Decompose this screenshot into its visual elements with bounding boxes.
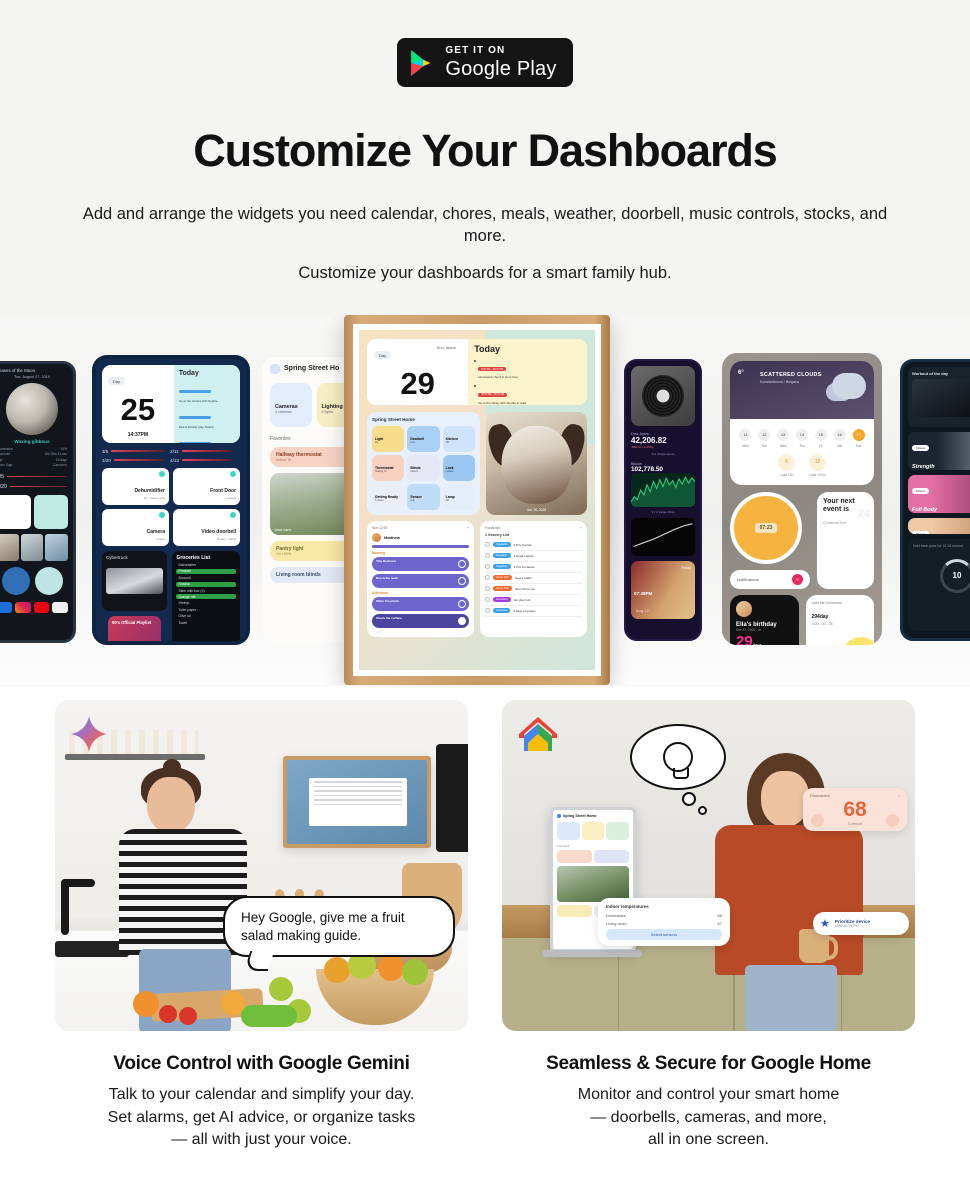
tile-lighting[interactable] bbox=[582, 822, 605, 840]
favorite-lock[interactable] bbox=[594, 850, 629, 863]
device-name: Camera bbox=[147, 529, 165, 535]
home-icon bbox=[557, 814, 561, 818]
alarm-bar bbox=[10, 486, 67, 488]
app-dock bbox=[0, 599, 73, 616]
circle-widget-right[interactable] bbox=[35, 567, 63, 595]
alarm-row[interactable]: 3/5 bbox=[0, 472, 73, 482]
groceries-widget[interactable]: Groceries List Dishwasher Produce Brocco… bbox=[172, 551, 240, 645]
favorite-thermostat[interactable] bbox=[557, 850, 592, 863]
grocery-row[interactable]: Home Taskfeed a rabbit bbox=[485, 573, 582, 584]
grocery-item[interactable]: Orange net bbox=[176, 594, 236, 599]
widget-size-label: 3x1 Single Quote bbox=[631, 452, 695, 456]
event-text: Go to the Library with Sophie bbox=[179, 399, 235, 403]
app-icon-instagram[interactable] bbox=[15, 602, 31, 613]
feature-desc-gemini: Talk to your calendar and simplify your … bbox=[55, 1084, 468, 1152]
calendar-event[interactable]: 6:30 PM – 08:30 PMHomework check & story… bbox=[474, 357, 581, 380]
event-text: Dad & brother play Switch bbox=[179, 425, 235, 429]
circle-widgets bbox=[0, 563, 73, 599]
device-name: Video doorbell bbox=[201, 529, 236, 535]
alarm-time: 2/20 bbox=[102, 458, 111, 463]
device-sub: Online bbox=[156, 537, 165, 541]
priority-sub: Until 10:15 PM bbox=[835, 924, 870, 928]
device-name: Dehumidifier bbox=[134, 488, 165, 494]
clock-time: 14:37PM bbox=[374, 401, 461, 405]
device-sub: Ready • 100% bbox=[217, 537, 236, 541]
notifications-widget[interactable]: Notifications 9 bbox=[730, 570, 810, 589]
tile-cameras[interactable]: Cameras 4 cameras bbox=[270, 383, 312, 427]
device-card[interactable]: DehumidifierOn • Auto mode bbox=[102, 468, 169, 505]
faucet bbox=[61, 879, 69, 935]
google-play-triangle-icon bbox=[409, 49, 435, 77]
device-name: Front Door bbox=[210, 488, 236, 494]
wall-speaker bbox=[436, 744, 468, 852]
grocery-list-title: 1 Grocery List bbox=[485, 533, 582, 537]
photo-thumb[interactable] bbox=[0, 534, 19, 561]
gemini-sparkle-icon bbox=[69, 714, 109, 754]
timer-label: Hold each pose for 10-15 second bbox=[913, 544, 970, 548]
grocery-item[interactable]: Olive oil bbox=[176, 614, 236, 619]
lightbulb-icon bbox=[663, 742, 693, 772]
photo-date: Jun 26, 2025 bbox=[486, 508, 587, 512]
time-meridiem: PM bbox=[141, 432, 149, 438]
favorites-label: Favorites bbox=[557, 844, 629, 848]
next-event-number: 24 bbox=[858, 508, 870, 520]
device-tile-setup[interactable] bbox=[0, 495, 31, 529]
alarm-row[interactable]: 2/20 bbox=[0, 482, 73, 492]
weather-mini-row: 6Load 11h 12Load 1d 0m bbox=[730, 452, 874, 485]
moon-row-value: 54% bbox=[61, 447, 67, 451]
store-badge-row: GET IT ON Google Play bbox=[0, 38, 970, 87]
checkbox-icon[interactable] bbox=[458, 577, 466, 585]
groceries-list: Dishwasher Produce Broccoli Snacks Skim … bbox=[176, 563, 236, 626]
lettuce bbox=[241, 1005, 297, 1027]
grocery-row[interactable]: Accessorytire plier bolt bbox=[485, 595, 582, 606]
workout-card-strength[interactable]: Fitness Strength bbox=[908, 432, 970, 470]
feature-gemini: Hey Google, give me a fruit salad making… bbox=[55, 700, 468, 1152]
grocery-item[interactable]: Dishwasher bbox=[176, 563, 236, 568]
checkbox-icon[interactable] bbox=[458, 560, 466, 568]
orange-fruit bbox=[378, 955, 404, 981]
control-light[interactable]: LightOn bbox=[372, 426, 404, 452]
apple-fruit bbox=[402, 959, 428, 985]
event-item[interactable]: Go to the Library with Sophie bbox=[179, 380, 235, 403]
countdown-row: Ella's birthday Oct 21, 2022 , in 29days… bbox=[730, 595, 874, 645]
hero-subtitle-2: Customize your dashboards for a smart fa… bbox=[0, 264, 970, 283]
thermostat-room: Downstairs bbox=[810, 793, 830, 798]
tablet-screen[interactable]: Day Sun, Alarm 29 14:37PM Today 6:30 PM … bbox=[359, 330, 595, 670]
chore-task[interactable]: Brush the teeth10 pt bbox=[372, 574, 469, 588]
control-kitchen[interactable]: KitchenOff bbox=[443, 426, 475, 452]
checkbox-icon[interactable] bbox=[485, 553, 490, 558]
chevron-right-icon[interactable]: › bbox=[899, 793, 900, 798]
tomato-fruit bbox=[179, 1007, 197, 1025]
card-pill: Fitness bbox=[912, 488, 929, 494]
tablet-camera-feed[interactable] bbox=[557, 866, 629, 902]
grocery-item[interactable]: Broccoli bbox=[176, 575, 236, 580]
week-day[interactable]: 13Wed bbox=[775, 429, 792, 448]
plus-button[interactable] bbox=[886, 814, 899, 827]
checkbox-icon[interactable] bbox=[458, 600, 466, 608]
apple-fruit bbox=[269, 977, 293, 1001]
alarm-label: Sun, Alarm bbox=[432, 344, 462, 352]
mini-gauge: 6Load 11h bbox=[778, 454, 795, 477]
photo-strip bbox=[0, 532, 73, 563]
hero-subtitle-1: Add and arrange the widgets you need cal… bbox=[80, 203, 890, 248]
event-time: 6:30 PM – 08:30 PM bbox=[478, 367, 506, 371]
camera-label: Yard cam bbox=[274, 527, 291, 532]
grocery-item[interactable]: Toilet paper bbox=[176, 607, 236, 612]
alarm-grid: 3/5 2/11 2/20 4/13 bbox=[96, 449, 246, 463]
quote-value: 42,206.82 bbox=[631, 436, 695, 445]
car-name: Cybertruck bbox=[106, 555, 163, 560]
tablet-stand bbox=[542, 950, 642, 957]
grocery-header: Foods list+ bbox=[485, 526, 582, 530]
star-icon: ★ bbox=[820, 917, 830, 930]
checkbox-icon[interactable] bbox=[485, 542, 490, 547]
clock-time-value: 07:48 bbox=[634, 591, 646, 596]
week-day[interactable]: 12Tue bbox=[756, 429, 773, 448]
control-blinds[interactable]: BlindsClosed bbox=[407, 455, 439, 481]
day-chip[interactable]: Day bbox=[108, 377, 125, 385]
chore-user[interactable]: Matthew bbox=[372, 533, 469, 542]
device-tile-front-door[interactable] bbox=[34, 495, 69, 529]
navy-bottom-row: Cybertruck 90's Official Playlist Grocer… bbox=[96, 551, 246, 645]
car-widget[interactable]: Cybertruck bbox=[102, 551, 167, 611]
degree-symbol: ° bbox=[741, 370, 743, 376]
weather-header: 6° SCATTERED CLOUDS Konstantinovo / Bulg… bbox=[730, 361, 874, 419]
moon-image bbox=[6, 383, 58, 435]
select-sensors-button[interactable]: Select sensors bbox=[606, 929, 722, 940]
event-title: Homework check & story time bbox=[478, 375, 518, 379]
bitcoin-sparkline-chart bbox=[631, 473, 695, 507]
quote-bitcoin[interactable]: Bitcoin 102,778.50 bbox=[631, 462, 695, 473]
app-icon-apps[interactable] bbox=[52, 602, 68, 613]
workout-image bbox=[912, 379, 970, 417]
grocery-item[interactable]: Shrimp bbox=[176, 601, 236, 606]
control-lock[interactable]: LockLocked bbox=[443, 455, 475, 481]
day-chip[interactable]: Day bbox=[374, 351, 391, 359]
xmas-days: 294 bbox=[812, 614, 820, 620]
alarm-time: 2/11 bbox=[170, 449, 178, 454]
tablet-favorites bbox=[557, 850, 629, 863]
pet-photo-widget[interactable]: Jun 26, 2025 bbox=[486, 412, 587, 515]
birthday-date: Oct 21, 2022 , in bbox=[736, 628, 793, 632]
moon-row-label: Illumination bbox=[0, 447, 13, 451]
chore-task[interactable]: Water the plants10 pt bbox=[372, 597, 469, 611]
tablet-home-row: Spring Street Home LightOn DoorbellLive … bbox=[367, 412, 587, 515]
chores-header: Sun 12:00+ bbox=[372, 526, 469, 530]
badge-small-label: GET IT ON bbox=[445, 46, 556, 56]
home-controls-widget[interactable]: Spring Street Home LightOn DoorbellLive … bbox=[367, 412, 480, 515]
google-home-icon bbox=[516, 714, 560, 754]
wall-display[interactable] bbox=[283, 756, 431, 848]
quote-dow[interactable]: Dow Jones 42,206.82 -680.47 (-1.63%) 3x1… bbox=[631, 432, 695, 456]
alarm-time: 3/5 bbox=[102, 449, 108, 454]
thermostat-card[interactable]: Downstairs› 68 Comfort bbox=[803, 788, 907, 831]
tile-sub: 4 cameras bbox=[275, 410, 307, 414]
clock-date: Aug 22 bbox=[636, 608, 649, 613]
playlist-name: 90's Official Playlist bbox=[112, 620, 157, 625]
features-section: Hey Google, give me a fruit salad making… bbox=[0, 686, 970, 1203]
groceries-title: Groceries List bbox=[176, 555, 236, 561]
chore-task[interactable]: Check the surface10 pt bbox=[372, 614, 469, 628]
fitness-dashboard-panel[interactable]: Workout of the day Fitness Strength Fitn… bbox=[900, 359, 970, 641]
home-icon bbox=[270, 364, 280, 374]
tablet-tiles bbox=[557, 822, 629, 840]
grocery-row[interactable]: Vegetable1 Head Lettuce bbox=[485, 551, 582, 562]
gemini-scene-image: Hey Google, give me a fruit salad making… bbox=[55, 700, 468, 1031]
clock-time: 14:37PM bbox=[108, 427, 168, 439]
checkbox-icon[interactable] bbox=[485, 564, 490, 569]
week-strip: 11Mon 12Tue 13Wed 14Thu 15Fri 16Sat 17Su… bbox=[730, 419, 874, 452]
notifications-label: Notifications bbox=[737, 577, 759, 582]
weather-calendar-panel[interactable]: 6° SCATTERED CLOUDS Konstantinovo / Bulg… bbox=[722, 353, 882, 645]
feature-title-gemini: Voice Control with Google Gemini bbox=[55, 1053, 468, 1075]
stocks-dashboard-panel[interactable]: Dow Jones 42,206.82 -680.47 (-1.63%) 3x1… bbox=[624, 359, 702, 641]
next-event-sub: Christmas Eve bbox=[823, 521, 868, 525]
alarm-time: 3/5 bbox=[0, 474, 4, 480]
chore-task[interactable]: Tidy Bedroom7:00 AM • 10 pt bbox=[372, 557, 469, 571]
event-item[interactable]: Neighbor's birthday party bbox=[179, 432, 235, 443]
day-number: 25 bbox=[108, 394, 168, 425]
alarm-item[interactable]: 3/5 bbox=[102, 449, 164, 454]
shelf bbox=[65, 754, 205, 760]
birthday-unit: days bbox=[753, 642, 762, 645]
moon-detail-rows: Illumination54% Moonrise18h 20m 41 sec A… bbox=[0, 444, 73, 472]
xmas-unit: day bbox=[820, 614, 829, 620]
prioritize-device-card[interactable]: ★ Prioritize device Until 10:15 PM bbox=[813, 912, 909, 935]
week-day[interactable]: 16Sat bbox=[831, 429, 848, 448]
tablet-lists-row: Sun 12:00+ Matthew Morning Tidy Bedroom7… bbox=[367, 521, 587, 637]
today-label: Today bbox=[179, 370, 235, 377]
quote-value: 102,778.50 bbox=[631, 466, 695, 473]
sun-icon bbox=[842, 637, 874, 645]
google-play-badge[interactable]: GET IT ON Google Play bbox=[397, 38, 572, 87]
mini-gauge: 12Load 1d 0m bbox=[809, 454, 826, 477]
music-player-widget[interactable]: 90's Official Playlist bbox=[108, 616, 161, 645]
pantry-light-tile[interactable] bbox=[557, 905, 592, 917]
device-card[interactable]: CameraOnline bbox=[102, 509, 169, 546]
device-card[interactable]: Video doorbellReady • 100% bbox=[173, 509, 240, 546]
grocery-row[interactable]: Vegetable4 Pcs Tomatoes bbox=[485, 562, 582, 573]
cloud-icon bbox=[832, 373, 866, 399]
checkbox-icon[interactable] bbox=[458, 617, 466, 625]
timer-value: 07:23 bbox=[755, 523, 778, 533]
car-image bbox=[106, 568, 163, 594]
app-icon-prime[interactable] bbox=[0, 602, 12, 613]
grocery-item[interactable]: Skim milk box (2) bbox=[176, 588, 236, 593]
device-showcase: Phases of the Moon Tue, August 27, 2019 … bbox=[0, 315, 970, 685]
card-pill: Fitness bbox=[912, 531, 929, 534]
chore-section-label: Morning bbox=[372, 551, 469, 555]
indoor-title: Indoor temperatures bbox=[606, 904, 722, 909]
moon-date: Tue, August 27, 2019 bbox=[0, 375, 73, 379]
control-doorbell[interactable]: DoorbellLive bbox=[407, 426, 439, 452]
control-sensor[interactable]: SensorLeft bbox=[407, 484, 439, 510]
alarm-bar bbox=[7, 476, 67, 478]
event-time: 06:30 AM – 08:30 AM bbox=[478, 393, 507, 397]
moon-row-label: Moonrise bbox=[0, 452, 10, 456]
alarm-time: 4/13 bbox=[170, 458, 179, 463]
home-title: Spring Street Ho bbox=[284, 365, 339, 372]
status-dot-icon bbox=[230, 512, 236, 518]
page-title: Customize Your Dashboards bbox=[0, 125, 970, 177]
event-title: Go to the library with Sophie to read bbox=[478, 401, 526, 405]
moon-row-label: Age bbox=[0, 458, 3, 462]
workout-card-fullbody[interactable]: Fitness Full Body bbox=[908, 475, 970, 513]
tile-wifi[interactable] bbox=[606, 822, 629, 840]
tablet-home-title: Spring Street Home bbox=[557, 814, 629, 818]
checkbox-icon[interactable] bbox=[485, 608, 490, 613]
grocery-item[interactable]: Towel bbox=[176, 620, 236, 625]
day-number: 29 bbox=[374, 368, 461, 399]
week-day[interactable]: 11Mon bbox=[737, 429, 754, 448]
thermostat-sub: Indoor 70 bbox=[276, 458, 322, 462]
checkbox-icon[interactable] bbox=[485, 597, 490, 602]
today-widget[interactable]: Day 25 14:37PM Today Go to the Library w… bbox=[102, 365, 240, 443]
photo-clock-widget[interactable]: Friday 07:48PM Aug 22 bbox=[631, 561, 695, 619]
alarm-item[interactable]: 2/11 bbox=[170, 449, 232, 454]
user-name: Matthew bbox=[384, 535, 400, 540]
week-day[interactable]: 14Thu bbox=[794, 429, 811, 448]
vinyl-record-icon bbox=[642, 375, 684, 417]
sensor-row: Downstairs66 bbox=[606, 913, 722, 918]
christmas-countdown-widget[interactable]: Until the Christmas 294day 2023 - 03 - 0… bbox=[806, 595, 875, 645]
clock-meridiem: PM bbox=[646, 591, 653, 596]
checkbox-icon[interactable] bbox=[485, 586, 490, 591]
quote-change: -680.47 (-1.63%) bbox=[631, 445, 695, 449]
recipe-card bbox=[309, 778, 407, 825]
thought-bubble-dot bbox=[682, 792, 696, 806]
card-name: Strength bbox=[912, 464, 970, 470]
status-dot-icon bbox=[230, 471, 236, 477]
moon-row-value: Capricorn bbox=[53, 463, 67, 467]
grocery-widget[interactable]: Foods list+ 1 Grocery List Vegetable2 Pc… bbox=[480, 521, 587, 637]
alarm-time: 2/20 bbox=[0, 484, 7, 490]
progress-bar bbox=[372, 545, 469, 548]
tablet-frame: Day Sun, Alarm 29 14:37PM Today 6:30 PM … bbox=[344, 315, 610, 685]
feature-desc-home: Monitor and control your smart home — do… bbox=[502, 1084, 915, 1152]
checkbox-icon[interactable] bbox=[485, 575, 490, 580]
workout-of-day-widget[interactable]: Workout of the day bbox=[908, 367, 970, 427]
orange-fruit bbox=[133, 991, 159, 1017]
timer-ring-value: 10 bbox=[940, 559, 970, 593]
blinds-name: Living room blinds bbox=[276, 572, 352, 578]
alarm-item[interactable]: 4/13 bbox=[170, 458, 232, 463]
indoor-temperatures-card[interactable]: Indoor temperatures Downstairs66 Living … bbox=[598, 898, 730, 946]
status-dot-icon bbox=[159, 512, 165, 518]
grocery-row[interactable]: Vegetable2 Pcs Carrots bbox=[485, 540, 582, 551]
device-card[interactable]: Front DoorLocked bbox=[173, 468, 240, 505]
grocery-row[interactable]: Groceries2 bags of grapes bbox=[485, 606, 582, 617]
week-day-selected[interactable]: 17Sun bbox=[850, 429, 867, 448]
app-icon-netflix[interactable] bbox=[34, 602, 50, 613]
sensor-row: Living room67 bbox=[606, 921, 722, 926]
alarm-item[interactable]: 2/20 bbox=[102, 458, 164, 463]
workout-card-third[interactable]: Fitness bbox=[908, 518, 970, 534]
hero-section: GET IT ON Google Play Customize Your Das… bbox=[0, 0, 970, 283]
dog-face bbox=[501, 426, 572, 504]
device-sub: On • Auto mode bbox=[144, 496, 165, 500]
workout-header: Workout of the day bbox=[912, 371, 970, 376]
moon-device-tiles bbox=[0, 492, 73, 532]
pantry-sub: On • 80% bbox=[276, 552, 352, 556]
moon-row-value: 15 days bbox=[56, 458, 67, 462]
control-thermostat[interactable]: ThermostatHeating 72 bbox=[372, 455, 404, 481]
home-scene-image: Spring Street Home Favorites bbox=[502, 700, 915, 1031]
calendar-event[interactable]: 06:30 AM – 08:30 AMGo to the library wit… bbox=[474, 382, 581, 404]
moon-dashboard-panel[interactable]: Phases of the Moon Tue, August 27, 2019 … bbox=[0, 361, 76, 643]
clock-day: Friday bbox=[681, 566, 691, 570]
chores-widget[interactable]: Sun 12:00+ Matthew Morning Tidy Bedroom7… bbox=[367, 521, 474, 637]
next-event-widget[interactable]: Your next event is Christmas Eve 24 bbox=[817, 492, 874, 589]
time-value: 14:37 bbox=[128, 432, 141, 438]
notification-badge: 9 bbox=[792, 574, 803, 585]
weather-widget[interactable]: 6° SCATTERED CLOUDS Konstantinovo / Bulg… bbox=[730, 361, 874, 485]
turntable-widget[interactable] bbox=[631, 366, 695, 426]
timer-widget[interactable]: 07:23 bbox=[730, 492, 802, 564]
grocery-row[interactable]: Home Taskdust off the car bbox=[485, 584, 582, 595]
navy-dashboard-panel[interactable]: Day 25 14:37PM Today Go to the Library w… bbox=[92, 355, 250, 645]
timer-and-event-row: 07:23 Notifications 9 Your next event is… bbox=[730, 492, 874, 589]
weather-condition: SCATTERED CLOUDS bbox=[760, 372, 822, 378]
feature-title-home: Seamless & Secure for Google Home bbox=[502, 1053, 915, 1075]
weather-location: Konstantinovo / Bulgaria bbox=[760, 380, 799, 384]
event-item[interactable]: Dad & brother play Switch bbox=[179, 406, 235, 429]
grocery-item[interactable]: Produce bbox=[176, 569, 236, 574]
photo-thumb[interactable] bbox=[21, 534, 44, 561]
voice-speech-bubble: Hey Google, give me a fruit salad making… bbox=[223, 896, 455, 957]
week-day[interactable]: 15Fri bbox=[812, 429, 829, 448]
tomato-fruit bbox=[159, 1005, 177, 1023]
birthday-widget[interactable]: Ella's birthday Oct 21, 2022 , in 29days bbox=[730, 595, 799, 645]
home-control-grid: LightOn DoorbellLive KitchenOff Thermost… bbox=[372, 426, 475, 510]
minus-button[interactable] bbox=[811, 814, 824, 827]
device-sub: Locked bbox=[226, 496, 236, 500]
tablet-today-widget[interactable]: Day Sun, Alarm 29 14:37PM Today 6:30 PM … bbox=[367, 339, 587, 405]
today-label: Today bbox=[474, 344, 581, 354]
xmas-date: 2023 - 03 - 06 bbox=[812, 622, 869, 626]
moon-row-label: Moon Sign bbox=[0, 463, 12, 467]
widget-size-label: 3 x 2 Large Chart bbox=[631, 510, 695, 514]
moon-panel-title: Phases of the Moon bbox=[0, 364, 73, 375]
home-widget-title: Spring Street Home bbox=[372, 417, 475, 422]
card-name: Full Body bbox=[912, 507, 970, 513]
large-line-chart bbox=[631, 518, 695, 556]
feature-google-home: Spring Street Home Favorites bbox=[502, 700, 915, 1152]
control-lamp[interactable]: LampOff bbox=[443, 484, 475, 510]
grocery-item[interactable]: Snacks bbox=[176, 582, 236, 587]
circle-widget-left[interactable] bbox=[2, 567, 30, 595]
status-dot-icon bbox=[159, 471, 165, 477]
device-grid: DehumidifierOn • Auto mode Front DoorLoc… bbox=[96, 463, 246, 551]
photo-thumb[interactable] bbox=[45, 534, 68, 561]
avatar bbox=[372, 533, 381, 542]
orange-fruit bbox=[324, 957, 350, 983]
birthday-days: 29 bbox=[736, 633, 753, 645]
badge-big-label: Google Play bbox=[445, 59, 556, 79]
pose-timer-widget[interactable]: Hold each pose for 10-15 second 10 bbox=[908, 539, 970, 631]
control-getting-ready[interactable]: Getting Ready3 others bbox=[372, 484, 404, 510]
card-pill: Fitness bbox=[912, 445, 929, 451]
tile-cameras[interactable] bbox=[557, 822, 580, 840]
avatar bbox=[736, 601, 752, 617]
moon-row-value: 18h 20m 41 sec bbox=[44, 452, 67, 456]
tablet-mat: Day Sun, Alarm 29 14:37PM Today 6:30 PM … bbox=[353, 324, 601, 676]
